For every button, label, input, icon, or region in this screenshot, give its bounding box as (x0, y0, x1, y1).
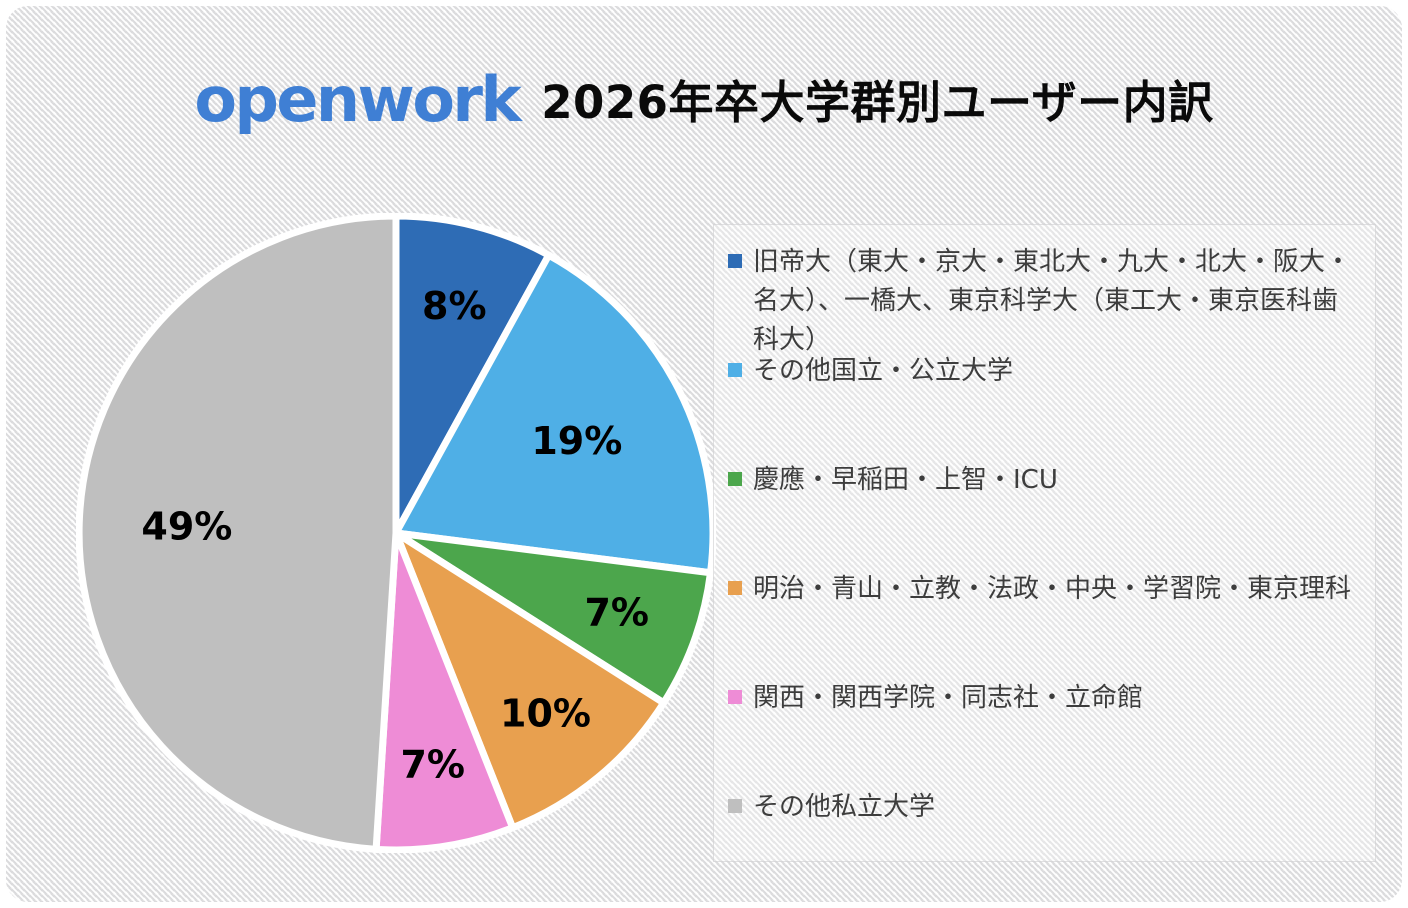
legend-item[interactable]: 明治・青山・立教・法政・中央・学習院・東京理科 (728, 566, 1371, 675)
pie-slice[interactable] (79, 216, 396, 849)
legend-item[interactable]: 関西・関西学院・同志社・立命館 (728, 675, 1371, 784)
slide-card: openwork 2026年卒大学群別ユーザー内訳 8%19%7%10%7%49… (6, 6, 1402, 902)
pie-slice-value-label: 7% (400, 743, 465, 787)
pie-slice-value-label: 8% (422, 284, 487, 328)
legend-item[interactable]: その他国立・公立大学 (728, 348, 1371, 457)
pie-slice-value-label: 19% (531, 419, 622, 463)
legend-swatch-icon (728, 690, 742, 704)
pie-slice-value-label: 7% (584, 591, 649, 635)
pie-slice-value-label: 49% (141, 504, 232, 548)
legend-panel: 旧帝大（東大・京大・東北大・九大・北大・阪大・名大）、一橋大、東京科学大（東工大… (713, 224, 1376, 862)
pie-chart-svg: 8%19%7%10%7%49% (76, 213, 716, 853)
chart-header: openwork 2026年卒大学群別ユーザー内訳 (6, 62, 1402, 142)
pie-chart: 8%19%7%10%7%49% (76, 213, 716, 853)
legend-item-label: 慶應・早稲田・上智・ICU (753, 461, 1058, 500)
legend-item-label: その他私立大学 (753, 788, 935, 827)
legend-swatch-icon (728, 363, 742, 377)
legend-item[interactable]: 旧帝大（東大・京大・東北大・九大・北大・阪大・名大）、一橋大、東京科学大（東工大… (728, 239, 1371, 348)
legend-item[interactable]: その他私立大学 (728, 784, 1371, 893)
page-title: 2026年卒大学群別ユーザー内訳 (541, 80, 1213, 125)
legend-swatch-icon (728, 799, 742, 813)
openwork-logo: openwork (194, 69, 519, 131)
legend-item-label: 関西・関西学院・同志社・立命館 (753, 679, 1143, 718)
legend-item[interactable]: 慶應・早稲田・上智・ICU (728, 457, 1371, 566)
legend-item-label: 旧帝大（東大・京大・東北大・九大・北大・阪大・名大）、一橋大、東京科学大（東工大… (753, 243, 1361, 360)
pie-slice-value-label: 10% (500, 692, 591, 736)
legend-item-label: 明治・青山・立教・法政・中央・学習院・東京理科 (753, 570, 1351, 609)
legend-item-label: その他国立・公立大学 (753, 352, 1013, 391)
legend-list: 旧帝大（東大・京大・東北大・九大・北大・阪大・名大）、一橋大、東京科学大（東工大… (728, 239, 1371, 893)
legend-swatch-icon (728, 581, 742, 595)
legend-swatch-icon (728, 254, 742, 268)
legend-swatch-icon (728, 472, 742, 486)
